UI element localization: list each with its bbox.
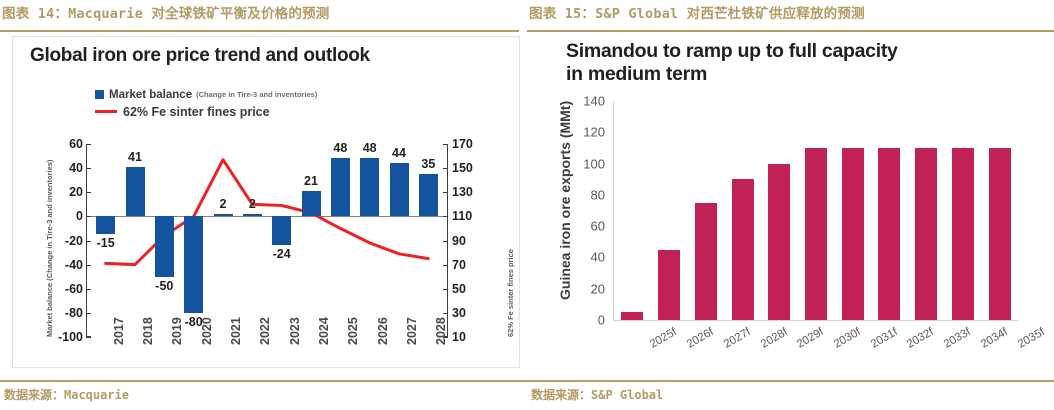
bar-market-balance: [214, 214, 233, 216]
y-tick-label-right: 10: [452, 330, 466, 344]
y-tick-left: [86, 265, 91, 266]
y-tick-label-right-chart: 0: [598, 313, 605, 328]
bar-value-label: -24: [262, 247, 302, 261]
y-tick-label-right: 70: [452, 258, 466, 272]
y-tick-left: [86, 313, 91, 314]
y-tick-right: [443, 289, 448, 290]
x-tick-label-left-chart: 2018: [141, 317, 155, 345]
y-tick-label-right: 90: [452, 234, 466, 248]
bar-guinea-exports: [621, 312, 643, 320]
source-note-right: 数据来源：S&P Global: [531, 386, 663, 403]
bar-guinea-exports: [915, 148, 937, 320]
x-tick-label-left-chart: 2023: [288, 317, 302, 345]
y-tick-label-left: 20: [69, 185, 83, 199]
bar-guinea-exports: [952, 148, 974, 320]
chart-panel-macquarie: Global iron ore price trend and outlook …: [12, 36, 520, 368]
y-tick-label-right: 110: [452, 209, 472, 223]
y-tick-left: [86, 192, 91, 193]
exhibit-page: 图表 14：Macquarie 对全球铁矿平衡及价格的预测 图表 15：S&P …: [0, 0, 1054, 410]
bar-guinea-exports: [768, 164, 790, 320]
header-rule-right: [527, 30, 1054, 32]
bar-value-label: -15: [86, 236, 126, 250]
y-tick-label-left: 60: [69, 137, 83, 151]
legend-item-market-balance: Market balance (Change in Tire-3 and inv…: [95, 87, 317, 102]
y-tick-label-right: 50: [452, 282, 466, 296]
plot-area-right: 1401201008060402002025f2026f2027f2028f20…: [614, 101, 1018, 320]
bar-guinea-exports: [695, 203, 717, 320]
exhibit-header-right: 图表 15：S&P Global 对西芒杜铁矿供应释放的预测: [527, 0, 1054, 32]
x-tick-label-left-chart: 2026: [376, 317, 390, 345]
chart-title-left: Global iron ore price trend and outlook: [30, 45, 370, 67]
y-tick-label-right-chart: 80: [591, 187, 605, 202]
y-tick-label-right-chart: 140: [583, 94, 605, 109]
y-tick-label-right-chart: 60: [591, 219, 605, 234]
bar-market-balance: [272, 216, 291, 245]
bar-guinea-exports: [658, 250, 680, 320]
y-tick-label-left: 40: [69, 161, 83, 175]
y-axis-title-left: Market balance (Change in Tire-3 and inv…: [45, 160, 54, 337]
y-tick-label-right: 170: [452, 137, 473, 151]
x-tick-label-left-chart: 2027: [405, 317, 419, 345]
bar-market-balance: [243, 214, 262, 216]
legend-label-fe-price: 62% Fe sinter fines price: [123, 105, 270, 119]
y-tick-label-right: 30: [452, 306, 466, 320]
bar-guinea-exports: [732, 179, 754, 320]
chart-legend-left: Market balance (Change in Tire-3 and inv…: [95, 87, 317, 121]
bar-market-balance: [331, 158, 350, 216]
y-tick-left: [86, 289, 91, 290]
x-tick-label-left-chart: 2022: [258, 317, 272, 345]
bar-market-balance: [302, 191, 321, 216]
bar-market-balance: [126, 167, 145, 216]
bar-market-balance: [155, 216, 174, 276]
footer-rule: [0, 380, 1054, 382]
x-tick-label-left-chart: 2017: [112, 317, 126, 345]
y2-axis-title-left: 62% Fe sinter fines price: [506, 249, 515, 337]
bar-value-label: 21: [291, 174, 331, 188]
bar-market-balance: [184, 216, 203, 313]
y-tick-left: [86, 216, 91, 217]
x-tick-label-left-chart: 2028: [434, 317, 448, 345]
y-tick-right: [443, 241, 448, 242]
y-tick-left: [86, 144, 91, 145]
header-rule-left: [0, 30, 519, 32]
x-tick-label-left-chart: 2025: [346, 317, 360, 345]
y-tick-right: [443, 313, 448, 314]
exhibit-15-title: 图表 15：S&P Global 对西芒杜铁矿供应释放的预测: [527, 0, 1054, 28]
y-tick-right: [443, 144, 448, 145]
y-tick-left: [86, 337, 91, 338]
y-tick-label-left: -100: [58, 330, 83, 344]
bar-market-balance: [360, 158, 379, 216]
bar-market-balance: [96, 216, 115, 234]
bar-guinea-exports: [878, 148, 900, 320]
y-tick-label-right: 150: [452, 161, 473, 175]
y-axis-title-right: Guinea iron ore exports (MMt): [557, 101, 573, 300]
bar-market-balance: [390, 163, 409, 216]
y-tick-right: [443, 216, 448, 217]
y-tick-label-right-chart: 100: [583, 156, 605, 171]
y-tick-label-right-chart: 40: [591, 250, 605, 265]
bar-value-label: -50: [144, 279, 184, 293]
legend-swatch-square-icon: [95, 90, 104, 99]
bar-value-label: 2: [232, 197, 272, 211]
bar-guinea-exports: [842, 148, 864, 320]
y-tick-label-left: -60: [65, 282, 83, 296]
source-note-left: 数据来源：Macquarie: [4, 386, 129, 403]
x-tick-label-left-chart: 2021: [229, 317, 243, 345]
legend-item-fe-price: 62% Fe sinter fines price: [95, 104, 317, 119]
chart-title-right-line1: Simandou to ramp up to full capacity: [566, 40, 986, 63]
bar-value-label: 35: [408, 157, 448, 171]
chart-title-right: Simandou to ramp up to full capacity in …: [566, 40, 986, 86]
bar-market-balance: [419, 174, 438, 216]
chart-title-right-line2: in medium term: [566, 63, 986, 86]
y-tick-label-right-chart: 120: [583, 125, 605, 140]
legend-sublabel-market-balance: (Change in Tire-3 and inventories): [196, 90, 317, 99]
exhibit-14-title: 图表 14：Macquarie 对全球铁矿平衡及价格的预测: [0, 0, 519, 28]
y-tick-right: [443, 192, 448, 193]
x-axis-right-chart-spine: [613, 320, 1018, 321]
x-tick-label-left-chart: 2020: [200, 317, 214, 345]
legend-label-market-balance: Market balance: [109, 89, 192, 101]
y-tick-left: [86, 168, 91, 169]
y-tick-label-left: -80: [65, 306, 83, 320]
plot-area-left: 6040200-20-40-60-80-10017015013011090705…: [91, 144, 443, 337]
y-tick-label-right-chart: 20: [591, 281, 605, 296]
y-axis-right-chart-spine: [613, 101, 614, 320]
y-tick-label-left: -40: [65, 258, 83, 272]
y-tick-label-left: -20: [65, 234, 83, 248]
y-tick-right: [443, 265, 448, 266]
bar-value-label: 41: [115, 150, 155, 164]
legend-swatch-line-icon: [95, 110, 117, 113]
exhibit-header-left: 图表 14：Macquarie 对全球铁矿平衡及价格的预测: [0, 0, 519, 32]
bar-guinea-exports: [805, 148, 827, 320]
y-tick-label-left: 0: [76, 209, 83, 223]
x-tick-label-left-chart: 2024: [317, 317, 331, 345]
bar-guinea-exports: [989, 148, 1011, 320]
y-tick-label-right: 130: [452, 185, 473, 199]
